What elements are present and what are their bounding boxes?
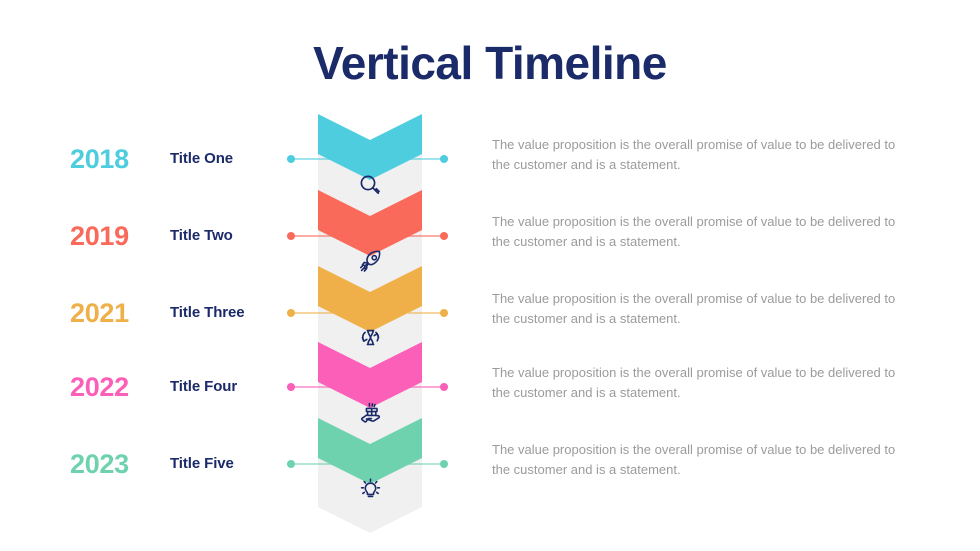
connector-right-4 (408, 385, 448, 389)
connector-left-5 (287, 462, 333, 466)
timeline-row-2-text: The value proposition is the overall pro… (492, 212, 896, 252)
timeline-row-5-text: The value proposition is the overall pro… (492, 440, 896, 480)
connector-right-3 (408, 311, 448, 315)
timeline-row-3-title: Title Three (170, 296, 300, 330)
timeline-row-4-text: The value proposition is the overall pro… (492, 363, 896, 403)
timeline-row-4-title: Title Four (170, 370, 300, 404)
timeline-row-3-year: 2021 (70, 296, 178, 330)
connector-left-4 (287, 385, 333, 389)
connector-right-5-dot (440, 460, 448, 468)
timeline-row-5-year: 2023 (70, 447, 178, 481)
timeline-row-1-year: 2018 (70, 142, 178, 176)
connector-right-2-dot (440, 232, 448, 240)
connector-left-4-dot (287, 383, 295, 391)
slide-canvas: Vertical Timeline (0, 0, 980, 551)
connector-left-5-dot (287, 460, 295, 468)
timeline-row-2-year: 2019 (70, 219, 178, 253)
connector-left-1-dot (287, 155, 295, 163)
connector-left-2-dot (287, 232, 295, 240)
connector-left-2 (287, 234, 333, 238)
timeline-row-1: 2018 Title One The value proposition is … (0, 142, 980, 182)
timeline-row-1-title: Title One (170, 142, 300, 176)
timeline-row-4: 2022 Title Four The value proposition is… (0, 370, 980, 410)
connector-right-1 (408, 157, 448, 161)
timeline-row-2-title: Title Two (170, 219, 300, 253)
timeline-row-3: 2021 Title Three The value proposition i… (0, 296, 980, 336)
timeline-row-4-year: 2022 (70, 370, 178, 404)
timeline-row-5-title: Title Five (170, 447, 300, 481)
timeline-row-5: 2023 Title Five The value proposition is… (0, 447, 980, 487)
connector-right-3-dot (440, 309, 448, 317)
connector-left-3-dot (287, 309, 295, 317)
page-title: Vertical Timeline (0, 36, 980, 90)
timeline-row-1-text: The value proposition is the overall pro… (492, 135, 896, 175)
connector-right-4-dot (440, 383, 448, 391)
timeline-row-2: 2019 Title Two The value proposition is … (0, 219, 980, 259)
connector-right-5 (408, 462, 448, 466)
timeline-row-3-text: The value proposition is the overall pro… (492, 289, 896, 329)
connector-left-1 (287, 157, 333, 161)
connector-right-2 (408, 234, 448, 238)
connector-right-1-dot (440, 155, 448, 163)
connector-left-3 (287, 311, 333, 315)
